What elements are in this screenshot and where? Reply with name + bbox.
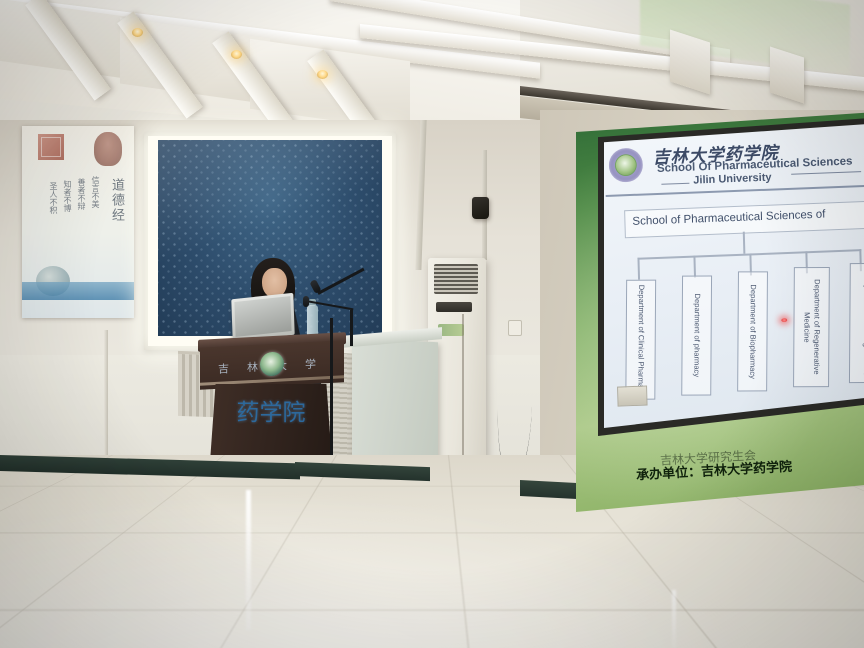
org-connector	[693, 256, 695, 278]
laptop[interactable]	[231, 293, 294, 341]
wall-poster-daodejing: 道德经 信言不美 善者不辩 知者不博 圣人不积	[22, 126, 134, 318]
projected-slide: 吉林大学药学院 School Of Pharmaceutical Science…	[604, 124, 864, 428]
side-table	[352, 338, 438, 463]
org-connector	[743, 232, 745, 254]
ceiling-block	[770, 46, 804, 103]
laser-pointer-dot	[781, 318, 787, 322]
org-connector	[637, 258, 639, 280]
floor-light-reflection	[672, 590, 676, 648]
ceiling-spotlight	[231, 50, 242, 59]
poster-wave-graphic	[22, 282, 134, 300]
poster-title: 道德经	[108, 178, 124, 223]
podium-school-text: 药学院	[208, 398, 334, 428]
org-box: Department of Clinical Pharmacy	[625, 280, 656, 400]
floor-light-reflection	[246, 490, 251, 630]
ceiling-spotlight	[317, 70, 328, 79]
jilin-university-emblem-icon	[608, 148, 643, 183]
wall-pipe	[104, 330, 108, 460]
laozi-portrait	[94, 132, 122, 166]
org-box-label: Department of Clinical Pharmacy	[626, 281, 655, 399]
laptop-screen	[234, 296, 291, 337]
org-box: Department of Biopharmacy	[737, 271, 768, 391]
poster-verse-col: 信言不美	[89, 176, 100, 208]
org-box: Department of pharmacy	[681, 275, 712, 395]
org-box-label: 4 Experiment Teaching Centers	[850, 264, 864, 382]
microphone	[303, 296, 309, 307]
ac-control-panel[interactable]	[436, 302, 472, 312]
org-box-label: Department of Regenerative Medicine	[794, 268, 829, 386]
org-box: 4 Experiment Teaching Centers	[849, 263, 864, 383]
slide-corner-logo	[617, 385, 648, 406]
red-seal-icon	[38, 134, 64, 160]
poster-verse-col: 善者不辩	[75, 178, 86, 210]
wall-speaker	[472, 197, 489, 219]
podium-head: 吉林大学	[200, 340, 344, 390]
poster-verse-col: 知者不博	[61, 180, 72, 212]
org-box-label: Department of Biopharmacy	[738, 272, 767, 390]
ceiling-spotlight	[132, 28, 143, 37]
lecture-hall-photo: 道德经 信言不美 善者不辩 知者不博 圣人不积 吉林大学	[0, 0, 864, 648]
slide-header-english-2: Jilin University	[693, 172, 772, 187]
poster-verse-col: 圣人不积	[47, 182, 58, 214]
org-box: Department of Regenerative Medicine	[793, 267, 830, 387]
org-box-label: Department of pharmacy	[682, 276, 711, 394]
ac-grille	[434, 264, 478, 294]
mic-stand-pole	[350, 310, 353, 346]
